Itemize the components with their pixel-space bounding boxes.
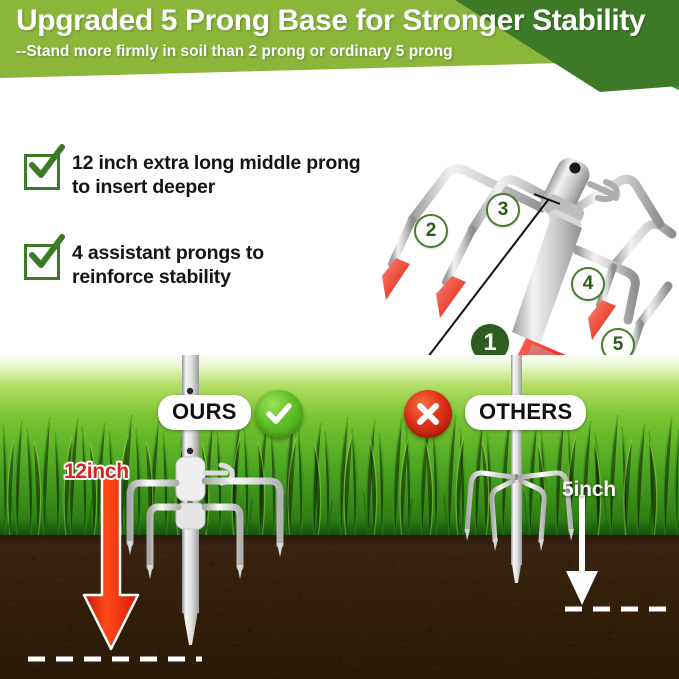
feature-panel: 12 inch extra long middle prong to inser… — [0, 92, 679, 355]
check-icon — [264, 399, 294, 429]
page-title: Upgraded 5 Prong Base for Stronger Stabi… — [16, 4, 676, 38]
others-label: OTHERS — [465, 395, 586, 430]
cross-icon-badge — [404, 390, 452, 438]
page-subtitle: --Stand more firmly in soil than 2 prong… — [16, 43, 453, 61]
feature-label-1: 12 inch extra long middle prong to inser… — [72, 152, 361, 200]
prong-badge-3: 3 — [486, 193, 520, 227]
feature-label-2: 4 assistant prongs to reinforce stabilit… — [72, 242, 264, 290]
prong-badge-2: 2 — [414, 214, 448, 248]
comparison-scene: OURS OTHERS 12inch 5inch — [0, 355, 679, 679]
feature-item-2: 4 assistant prongs to reinforce stabilit… — [24, 242, 264, 290]
feature-item-1: 12 inch extra long middle prong to inser… — [24, 152, 361, 200]
header-banner: Upgraded 5 Prong Base for Stronger Stabi… — [0, 0, 679, 92]
checkbox-icon-2 — [24, 244, 60, 280]
checkmark-icon-1 — [25, 145, 65, 185]
ours-depth-label: 12inch — [64, 460, 129, 484]
checkmark-icon-2 — [25, 235, 65, 275]
product-infographic: Upgraded 5 Prong Base for Stronger Stabi… — [0, 0, 679, 679]
checkbox-icon-1 — [24, 154, 60, 190]
prong-badge-4: 4 — [571, 267, 605, 301]
cross-icon — [414, 400, 442, 428]
others-depth-label: 5inch — [562, 478, 616, 502]
check-icon-badge — [255, 390, 303, 438]
ours-label: OURS — [158, 395, 251, 430]
